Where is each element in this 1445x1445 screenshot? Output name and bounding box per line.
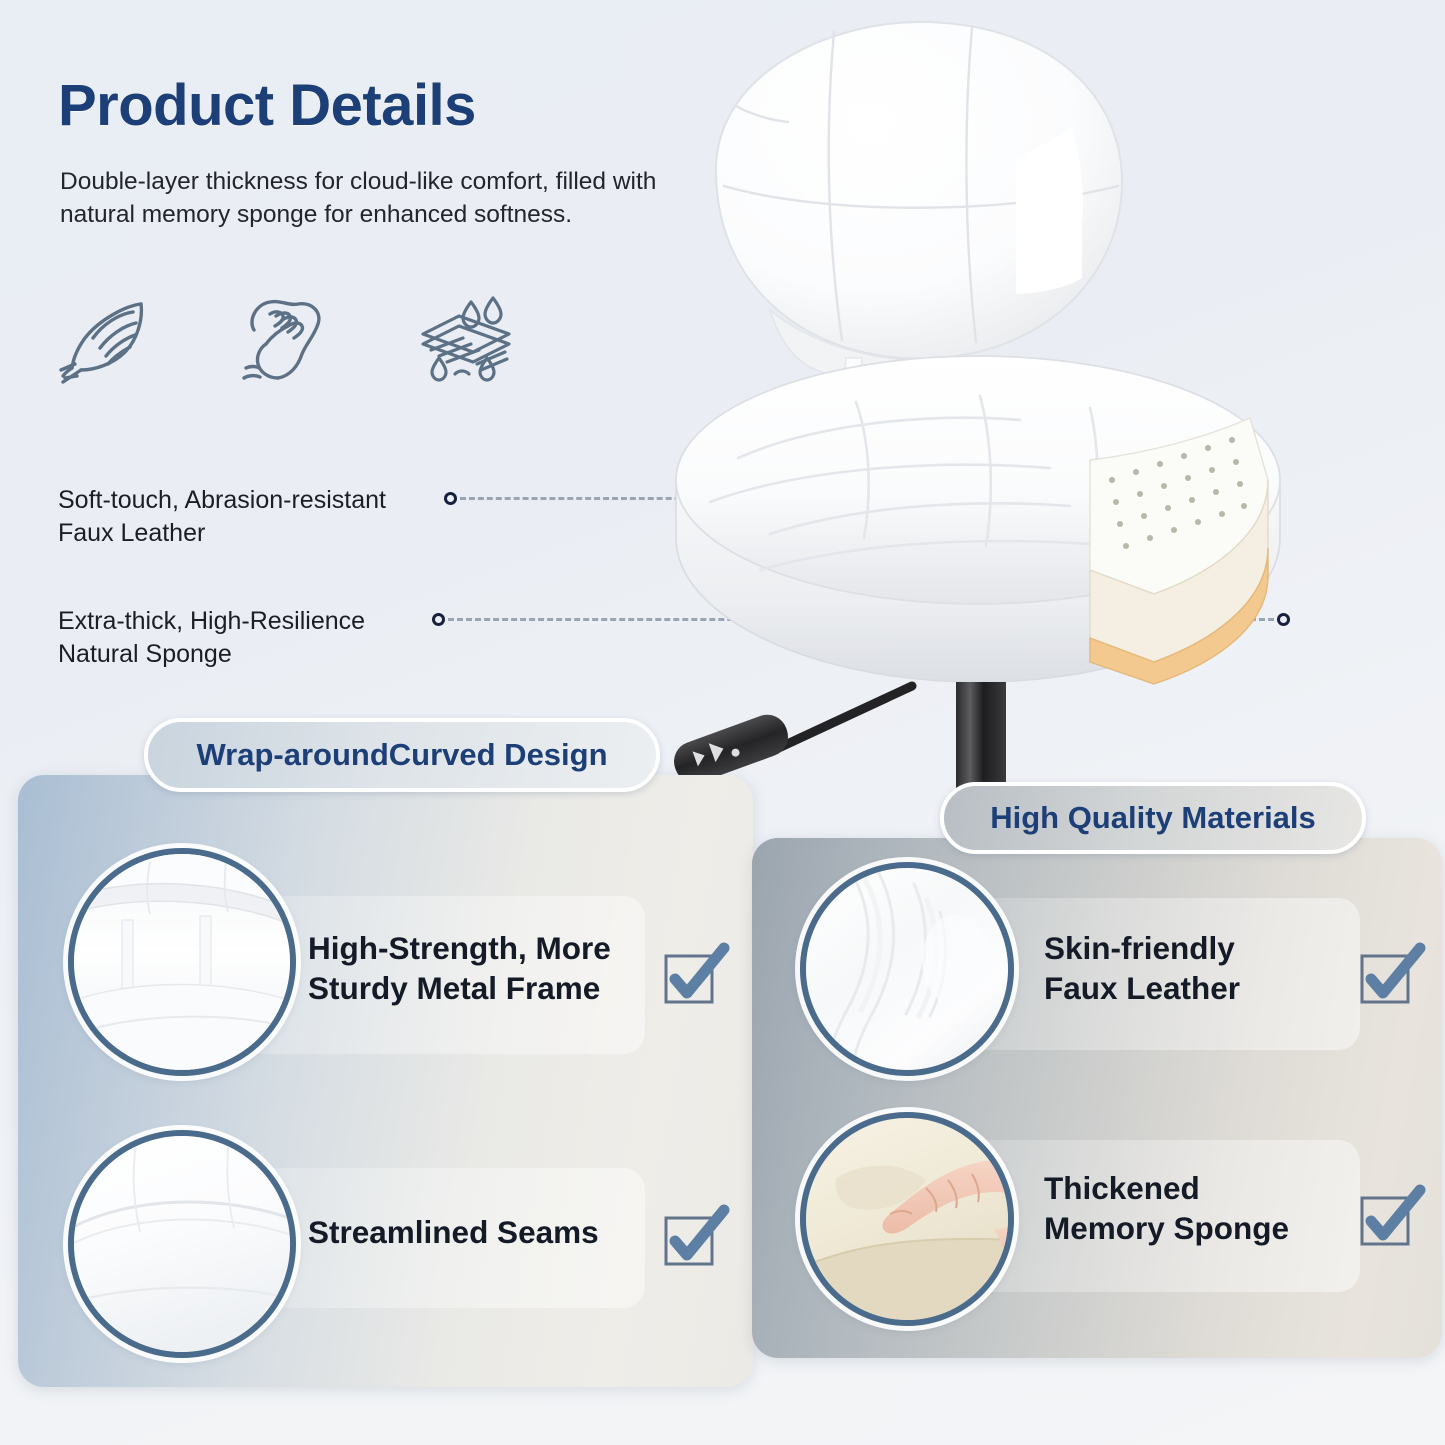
gas-column [956,682,1006,794]
callout-label-faux-leather: Soft-touch, Abrasion-resistant Faux Leat… [58,484,458,551]
checkbox-checked-icon[interactable] [662,948,720,1006]
feature-label-metal-frame: High-Strength, More Sturdy Metal Frame [308,928,611,1009]
feature-icon-strip [55,290,555,390]
feature-label-streamlined-seams: Streamlined Seams [308,1212,599,1252]
ring-marker [444,492,457,505]
feature-label-skin-friendly: Skin-friendly Faux Leather [1044,928,1240,1009]
height-lever [668,686,912,789]
thumb-faux-leather-photo[interactable] [800,862,1014,1076]
checkbox-checked-icon[interactable] [1358,948,1416,1006]
thumb-memory-sponge-hand-photo[interactable] [800,1112,1014,1326]
badge-wrap-around-design: Wrap-aroundCurved Design [144,718,660,792]
water-resistant-layers-icon [413,290,523,390]
ring-marker [432,613,445,626]
infographic-canvas: Product Details Double-layer thickness f… [0,0,1445,1445]
white-tufted-swivel-chair-image [620,10,1445,800]
thumb-metal-frame-photo[interactable] [68,848,296,1076]
feather-icon [55,290,165,390]
feature-label-memory-sponge: Thickened Memory Sponge [1044,1168,1289,1249]
checkbox-checked-icon[interactable] [662,1210,720,1268]
callout-label-natural-sponge: Extra-thick, High-Resilience Natural Spo… [58,605,458,672]
page-subtitle: Double-layer thickness for cloud-like co… [60,165,660,231]
badge-high-quality-materials: High Quality Materials [940,782,1366,854]
wipe-clean-icon [230,290,340,390]
thumb-seam-closeup-photo[interactable] [68,1130,296,1358]
checkbox-checked-icon[interactable] [1358,1190,1416,1248]
page-title: Product Details [58,72,476,139]
